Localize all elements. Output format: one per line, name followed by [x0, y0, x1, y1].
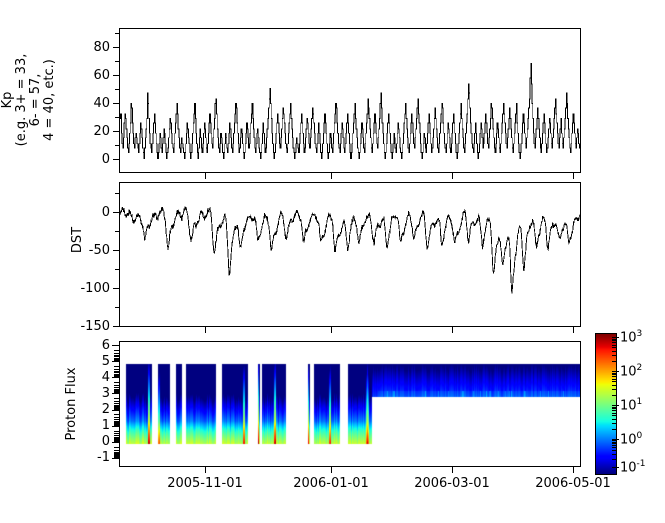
colorbar-tick-minor	[612, 454, 616, 455]
flux-ytick-minor	[114, 356, 119, 357]
flux-ytick-minor	[114, 450, 119, 451]
dst-xtick-mark	[331, 327, 332, 333]
flux-ytick-minor	[114, 441, 119, 442]
proton-flux-panel-frame	[119, 341, 581, 467]
colorbar-tick-minor	[612, 450, 616, 451]
colorbar-tick-minor	[612, 419, 616, 420]
kp-axis-label-line2: (e.g. 3+ = 33,	[15, 35, 29, 165]
flux-ytick-mark	[112, 361, 119, 362]
flux-ytick-minor	[114, 409, 119, 410]
colorbar-tick-minor	[612, 381, 616, 382]
colorbar-tick-major	[612, 371, 619, 372]
colorbar-tick-minor	[612, 385, 616, 386]
xtick-label-2006-05-01: 2006-05-01	[523, 476, 623, 491]
dst-ytick-m150: -150	[62, 319, 110, 334]
kp-ytick-mark	[113, 131, 119, 132]
flux-ytick-minor	[114, 372, 119, 373]
flux-ytick-mark	[112, 442, 119, 443]
flux-ytick-minor	[114, 366, 119, 367]
flux-ytick-minor	[114, 353, 119, 354]
kp-series-plot	[120, 29, 580, 172]
colorbar-tick-minor	[612, 361, 616, 362]
kp-ytick-minor	[115, 33, 119, 34]
dst-ytick-m100: -100	[62, 281, 110, 296]
colorbar-tick-minor	[612, 445, 616, 446]
colorbar-tick-minor	[612, 415, 616, 416]
xtick-label-2006-03-01: 2006-03-01	[402, 476, 502, 491]
flux-ytick-2: 2	[80, 402, 110, 417]
colorbar-tick-minor	[612, 347, 616, 348]
colorbar-tick-minor	[612, 351, 616, 352]
colorbar-tick-1em1: 10-1	[620, 459, 646, 475]
kp-ytick-minor	[115, 89, 119, 90]
colorbar-tick-minor	[612, 389, 616, 390]
dst-ytick-minor	[115, 231, 119, 232]
flux-xtick-mark	[331, 467, 332, 473]
flux-ytick-minor	[114, 425, 119, 426]
flux-ytick-mark	[112, 410, 119, 411]
colorbar-tick-major	[612, 337, 619, 338]
flux-ytick-minor	[114, 398, 119, 399]
dst-xtick-mark	[452, 327, 453, 333]
flux-ytick-minor	[114, 403, 119, 404]
colorbar-tick-minor	[612, 340, 616, 341]
flux-ytick-m1: -1	[80, 450, 110, 465]
flux-ytick-minor	[114, 393, 119, 394]
dst-ytick-mark	[113, 288, 119, 289]
flux-ytick-4: 4	[80, 370, 110, 385]
flux-ytick-minor	[114, 457, 119, 458]
colorbar-tick-minor	[612, 447, 616, 448]
colorbar-tick-minor	[612, 379, 616, 380]
colorbar-tick-1e2: 102	[620, 363, 642, 379]
colorbar-tick-minor	[612, 342, 616, 343]
colorbar-tick-minor	[612, 442, 616, 443]
flux-ytick-5: 5	[80, 354, 110, 369]
colorbar-tick-minor	[612, 423, 616, 424]
colorbar-tick-minor	[612, 339, 616, 340]
dst-ytick-mark	[113, 212, 119, 213]
kp-axis-label-line3: 6- = 57,	[29, 35, 43, 165]
kp-xtick-mark	[452, 173, 453, 179]
flux-ytick-minor	[114, 350, 119, 351]
kp-axis-label-line1: Kp	[1, 35, 15, 165]
colorbar-tick-minor	[612, 443, 616, 444]
colorbar-tick-minor	[612, 413, 616, 414]
xtick-label-2005-11-01: 2005-11-01	[155, 476, 255, 491]
flux-ytick-mark	[112, 426, 119, 427]
flux-ytick-minor	[114, 435, 119, 436]
dst-ytick-minor	[115, 307, 119, 308]
colorbar-tick-minor	[612, 345, 616, 346]
kp-ytick-0: 0	[78, 152, 110, 167]
figure-canvas: Kp (e.g. 3+ = 33, 6- = 57, 4 = 40, etc.)…	[0, 0, 665, 523]
flux-ytick-minor	[114, 414, 119, 415]
flux-ytick-minor	[114, 369, 119, 370]
colorbar-tick-minor	[612, 410, 616, 411]
proton-flux-axis-label: Proton Flux	[65, 344, 79, 464]
flux-ytick-3: 3	[80, 386, 110, 401]
colorbar-tick-1e0: 100	[620, 431, 642, 447]
kp-ytick-mark	[113, 103, 119, 104]
colorbar-tick-minor	[612, 429, 616, 430]
dst-series-line	[120, 207, 580, 293]
kp-xtick-mark	[205, 173, 206, 179]
colorbar-tick-minor	[612, 373, 616, 374]
kp-ytick-minor	[115, 145, 119, 146]
kp-ytick-minor	[115, 61, 119, 62]
flux-ytick-6: 6	[80, 338, 110, 353]
dst-xtick-mark	[573, 327, 574, 333]
kp-xtick-mark	[331, 173, 332, 179]
kp-ytick-40: 40	[78, 96, 110, 111]
colorbar-tick-minor	[612, 407, 616, 408]
kp-ytick-80: 80	[78, 40, 110, 55]
colorbar-tick-minor	[612, 374, 616, 375]
flux-ytick-0: 0	[80, 434, 110, 449]
kp-ytick-60: 60	[78, 68, 110, 83]
colorbar-tick-major	[612, 405, 619, 406]
dst-ytick-mark	[113, 326, 119, 327]
colorbar-tick-minor	[612, 376, 616, 377]
kp-ytick-20: 20	[78, 124, 110, 139]
flux-ytick-mark	[112, 458, 119, 459]
flux-xtick-mark	[205, 467, 206, 473]
flux-xtick-mark	[452, 467, 453, 473]
kp-xtick-mark	[573, 173, 574, 179]
flux-ytick-minor	[114, 385, 119, 386]
kp-ytick-mark	[113, 47, 119, 48]
colorbar-tick-minor	[612, 395, 616, 396]
flux-ytick-1: 1	[80, 418, 110, 433]
flux-ytick-minor	[114, 387, 119, 388]
flux-ytick-mark	[112, 345, 119, 346]
flux-ytick-minor	[114, 447, 119, 448]
kp-ytick-minor	[115, 117, 119, 118]
proton-flux-heatmap	[120, 342, 580, 466]
dst-xtick-mark	[205, 327, 206, 333]
flux-ytick-minor	[114, 431, 119, 432]
colorbar-tick-minor	[612, 355, 616, 356]
flux-ytick-minor	[114, 377, 119, 378]
colorbar-tick-minor	[612, 459, 616, 460]
colorbar-tick-minor	[612, 440, 616, 441]
flux-ytick-minor	[114, 401, 119, 402]
flux-ytick-minor	[114, 417, 119, 418]
kp-ytick-mark	[113, 75, 119, 76]
flux-ytick-minor	[114, 419, 119, 420]
dst-ytick-0: 0	[62, 205, 110, 220]
colorbar-tick-1e1: 101	[620, 397, 642, 413]
colorbar-tick-major	[612, 467, 619, 468]
kp-axis-label-line4: 4 = 40, etc.)	[43, 35, 57, 165]
xtick-label-2006-01-01: 2006-01-01	[281, 476, 381, 491]
colorbar-tick-1e3: 103	[620, 329, 642, 345]
colorbar-tick-minor	[612, 408, 616, 409]
flux-xtick-mark	[573, 467, 574, 473]
kp-ytick-mark	[113, 159, 119, 160]
dst-ytick-minor	[115, 269, 119, 270]
flux-ytick-minor	[114, 360, 119, 361]
kp-series-line	[120, 63, 580, 158]
dst-ytick-mark	[113, 250, 119, 251]
flux-ytick-minor	[114, 382, 119, 383]
dst-ytick-m50: -50	[62, 243, 110, 258]
dst-ytick-minor	[115, 193, 119, 194]
flux-ytick-minor	[114, 433, 119, 434]
dst-series-plot	[120, 183, 580, 326]
